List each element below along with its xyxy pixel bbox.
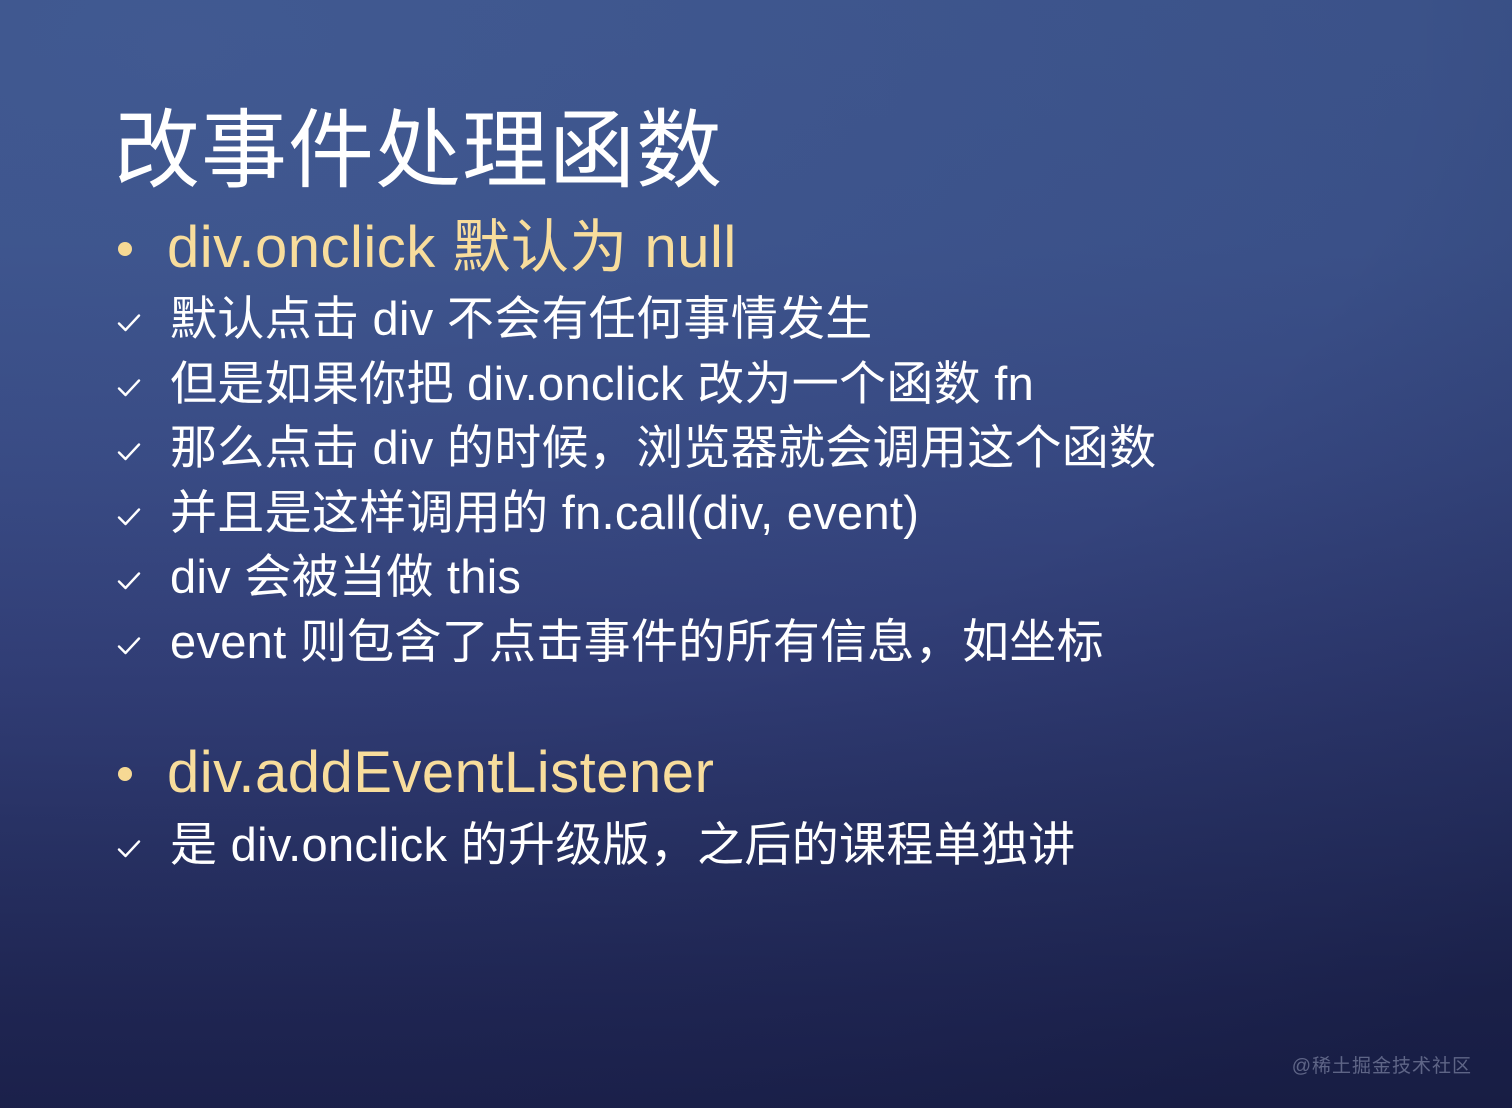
bullet-item-level1: div.onclick 默认为 null xyxy=(0,214,1512,282)
bullet-level2-label: div 会被当做 this xyxy=(170,546,521,609)
bullet-item-level2: event 则包含了点击事件的所有信息，如坐标 xyxy=(0,611,1512,674)
bullet-level2-label: 默认点击 div 不会有任何事情发生 xyxy=(170,288,873,351)
bullet-level2-label: 是 div.onclick 的升级版，之后的课程单独讲 xyxy=(170,814,1076,877)
bullet-section: div.addEventListener 是 div.onclick 的升级版，… xyxy=(0,739,1512,876)
bullet-dot-icon xyxy=(118,242,132,256)
check-icon xyxy=(116,504,142,530)
bullet-level2-label: 并且是这样调用的 fn.call(div, event) xyxy=(170,482,919,545)
check-icon xyxy=(116,568,142,594)
bullet-level1-label: div.addEventListener xyxy=(167,739,714,807)
bullet-level2-label: 那么点击 div 的时候，浏览器就会调用这个函数 xyxy=(170,417,1156,480)
presentation-slide: 改事件处理函数 div.onclick 默认为 null 默认点击 div 不会… xyxy=(0,0,1512,1108)
check-icon xyxy=(116,633,142,659)
bullet-item-level2: 默认点击 div 不会有任何事情发生 xyxy=(0,288,1512,351)
bullet-item-level2: 是 div.onclick 的升级版，之后的课程单独讲 xyxy=(0,814,1512,877)
slide-content: 改事件处理函数 div.onclick 默认为 null 默认点击 div 不会… xyxy=(0,0,1512,1108)
bullet-item-level2: 那么点击 div 的时候，浏览器就会调用这个函数 xyxy=(0,417,1512,480)
check-icon xyxy=(116,310,142,336)
page-title: 改事件处理函数 xyxy=(114,102,723,201)
slide-body: div.onclick 默认为 null 默认点击 div 不会有任何事情发生 xyxy=(0,214,1512,876)
bullet-level2-label: event 则包含了点击事件的所有信息，如坐标 xyxy=(170,611,1104,674)
bullet-level2-label: 但是如果你把 div.onclick 改为一个函数 fn xyxy=(170,353,1034,416)
bullet-item-level1: div.addEventListener xyxy=(0,739,1512,807)
bullet-item-level2: 但是如果你把 div.onclick 改为一个函数 fn xyxy=(0,353,1512,416)
bullet-dot-icon xyxy=(118,767,132,781)
bullet-section: div.onclick 默认为 null 默认点击 div 不会有任何事情发生 xyxy=(0,214,1512,673)
watermark-label: @稀土掘金技术社区 xyxy=(1292,1051,1472,1078)
check-icon xyxy=(116,836,142,862)
bullet-level1-label: div.onclick 默认为 null xyxy=(167,214,737,282)
bullet-item-level2: div 会被当做 this xyxy=(0,546,1512,609)
bullet-item-level2: 并且是这样调用的 fn.call(div, event) xyxy=(0,482,1512,545)
check-icon xyxy=(116,375,142,401)
check-icon xyxy=(116,439,142,465)
